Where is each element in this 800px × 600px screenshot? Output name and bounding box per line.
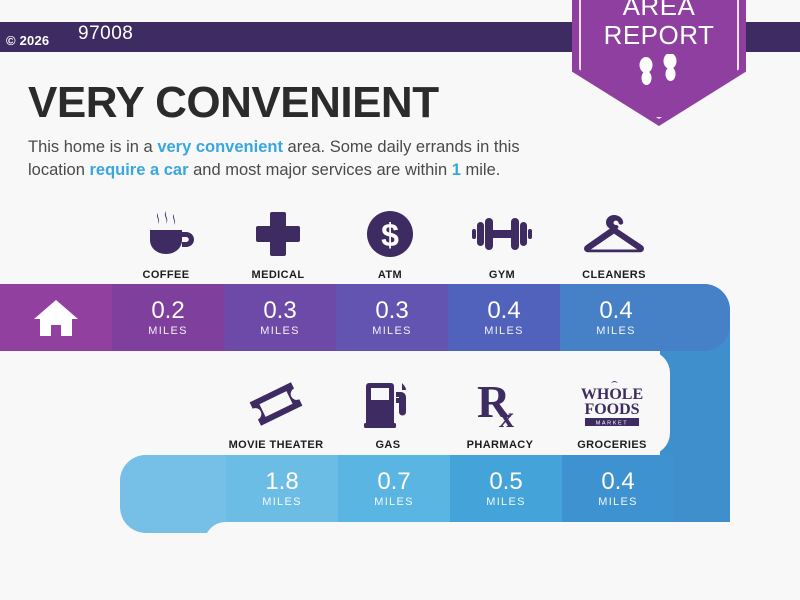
category-label: MOVIE THEATER: [229, 439, 324, 451]
svg-text:$: $: [381, 217, 399, 253]
home-cell: [0, 284, 112, 351]
distance-unit: MILES: [596, 325, 636, 337]
distance-unit: MILES: [260, 325, 300, 337]
badge-title: AREA REPORT: [572, 0, 746, 50]
distance-unit: MILES: [486, 496, 526, 508]
bar-tail-secondary: [674, 455, 730, 522]
hanger-icon: [583, 208, 645, 260]
bar-notch-bottom-left: [204, 522, 324, 582]
summary-part-3: and most major services are within: [189, 161, 452, 179]
category-icon-row-primary: COFFEE MEDICAL $ ATM: [110, 208, 670, 281]
category-groceries: WHOLE FOODS MARKET GROCERIES: [556, 378, 668, 451]
medical-cross-icon: [254, 208, 302, 260]
category-label: GROCERIES: [577, 439, 647, 451]
area-report-infographic: 97008 © 2026 AREA REPORT VERY CONVENIENT…: [0, 0, 800, 600]
svg-text:x: x: [499, 401, 514, 429]
category-label: MEDICAL: [252, 269, 305, 281]
category-pharmacy: R x PHARMACY: [444, 378, 556, 451]
category-label: GAS: [375, 439, 400, 451]
distance-unit: MILES: [374, 496, 414, 508]
category-label: CLEANERS: [582, 269, 646, 281]
home-icon: [33, 298, 79, 338]
badge-title-line1: AREA: [572, 0, 746, 21]
whole-foods-logo: WHOLE FOODS MARKET: [575, 378, 649, 430]
distance-bar-secondary: 1.8 MILES 0.7 MILES 0.5 MILES 0.4 MILES: [120, 455, 730, 522]
distance-cell: 0.2 MILES: [112, 284, 224, 351]
distance-unit: MILES: [598, 496, 638, 508]
category-label: GYM: [489, 269, 515, 281]
svg-text:MARKET: MARKET: [596, 421, 629, 427]
category-label: COFFEE: [142, 269, 189, 281]
category-atm: $ ATM: [334, 208, 446, 281]
distance-cell: 0.4 MILES: [448, 284, 560, 351]
distance-value: 0.5: [489, 469, 522, 495]
category-icon-row-secondary: MOVIE THEATER GAS R: [220, 378, 668, 451]
summary-part-4: mile.: [461, 161, 500, 179]
distance-value: 0.4: [601, 469, 634, 495]
distance-value: 0.4: [487, 298, 520, 324]
dollar-circle-icon: $: [366, 208, 414, 260]
category-label: PHARMACY: [467, 439, 534, 451]
distance-value: 0.3: [375, 298, 408, 324]
category-medical: MEDICAL: [222, 208, 334, 281]
distance-bar-primary: 0.2 MILES 0.3 MILES 0.3 MILES 0.4 MILES …: [0, 284, 730, 351]
distance-value: 0.4: [599, 298, 632, 324]
zip-code: 97008: [78, 22, 133, 46]
distance-cell: 0.4 MILES: [560, 284, 672, 351]
gas-pump-icon: [363, 378, 413, 430]
category-movie-theater: MOVIE THEATER: [220, 378, 332, 451]
summary-highlight-1: very convenient: [157, 138, 283, 156]
distance-cell: 0.5 MILES: [450, 455, 562, 522]
distance-unit: MILES: [262, 496, 302, 508]
footprints-icon: [572, 54, 746, 93]
summary-part-1: This home is in a: [28, 138, 157, 156]
coffee-cup-icon: [138, 208, 194, 260]
bar-tail-primary: [672, 284, 730, 351]
distance-cell: 1.8 MILES: [226, 455, 338, 522]
category-gas: GAS: [332, 378, 444, 451]
category-cleaners: CLEANERS: [558, 208, 670, 281]
distance-value: 0.3: [263, 298, 296, 324]
distance-unit: MILES: [148, 325, 188, 337]
distance-cell: 0.3 MILES: [224, 284, 336, 351]
category-label: ATM: [378, 269, 402, 281]
distance-cell: 0.7 MILES: [338, 455, 450, 522]
summary-highlight-2: require a car: [89, 161, 188, 179]
rx-icon: R x: [477, 378, 523, 430]
summary-highlight-3: 1: [452, 161, 461, 179]
movie-ticket-icon: [249, 378, 303, 430]
dumbbell-icon: [472, 208, 532, 260]
distance-value: 0.7: [377, 469, 410, 495]
distance-unit: MILES: [484, 325, 524, 337]
distance-value: 0.2: [151, 298, 184, 324]
bar-lead-secondary: [120, 455, 226, 522]
badge-title-line2: REPORT: [572, 21, 746, 50]
summary-text: This home is in a very convenient area. …: [28, 136, 573, 182]
distance-unit: MILES: [372, 325, 412, 337]
distance-cell: 0.3 MILES: [336, 284, 448, 351]
distance-cell: 0.4 MILES: [562, 455, 674, 522]
svg-text:FOODS: FOODS: [584, 401, 639, 418]
page-title: VERY CONVENIENT: [28, 78, 439, 128]
distance-value: 1.8: [265, 469, 298, 495]
category-gym: GYM: [446, 208, 558, 281]
copyright-watermark: © 2026: [6, 33, 49, 48]
category-coffee: COFFEE: [110, 208, 222, 281]
area-report-badge: AREA REPORT: [572, 0, 746, 126]
